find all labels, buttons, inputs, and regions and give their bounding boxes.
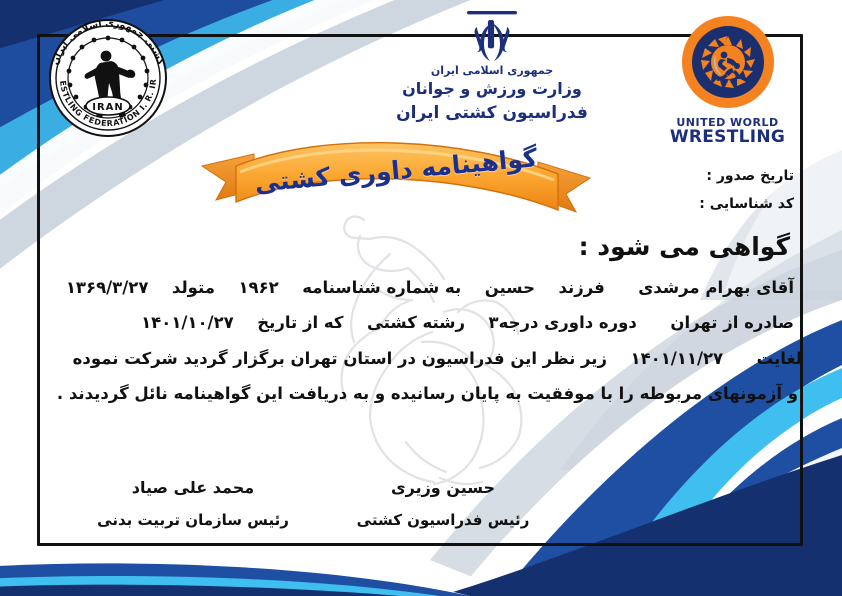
emblem-line-3: فدراسیون کشتی ایران <box>352 103 632 123</box>
issue-date-label: تاریخ صدور : <box>706 168 794 184</box>
deco-bottom-left-white <box>0 556 470 596</box>
united-world-wrestling-logo-icon <box>680 14 776 110</box>
uww-line-2: WRESTLING <box>660 129 795 147</box>
certificate-body: گواهی می شود : آقای بهرام مرشدی فرزند حس… <box>40 232 802 418</box>
certificate-meta-fields: تاریخ صدور : کد شناسایی : <box>584 168 794 224</box>
ministry-emblem-block: جمهوری اسلامی ایران وزارت ورزش و جوانان … <box>352 6 632 136</box>
id-number-label: به شماره شناسنامه <box>302 278 461 297</box>
id-code-field[interactable]: کد شناسایی : <box>584 196 794 212</box>
signature-role: رئیس سازمان تربیت بدنی <box>68 511 318 529</box>
emblem-line-2: وزارت ورزش و جوانان <box>352 79 632 98</box>
signature-role: رئیس فدراسیون کشتی <box>318 511 568 529</box>
father-label: فرزند <box>558 278 604 297</box>
signature-block: حسین وزیری رئیس فدراسیون کشتی محمد علی ص… <box>48 478 568 529</box>
issue-date-field[interactable]: تاریخ صدور : <box>584 168 794 184</box>
from-date-label: که از تاریخ <box>257 313 343 332</box>
body-line-4: و آزمونهای مربوطه را با موفقیت به پایان … <box>40 383 802 405</box>
until-date-value: ۱۴۰۱/۱۱/۲۷ <box>631 349 724 368</box>
body-line-3-rest: زیر نظر این فدراسیون در استان تهران برگز… <box>73 349 607 368</box>
discipline-name: رشته کشتی <box>367 313 465 332</box>
from-date-value: ۱۴۰۱/۱۰/۲۷ <box>141 313 234 332</box>
signature-name: محمد علی صیاد <box>68 478 318 497</box>
body-line-3: لغایت ۱۴۰۱/۱۱/۲۷ زیر نظر این فدراسیون در… <box>40 348 802 370</box>
wrestling-federation-seal: IRAN کشتی جمهوری اسلامی ایران WRESTLING … <box>38 8 178 148</box>
signature-name: حسین وزیری <box>318 478 568 497</box>
birth-date-value: ۱۳۶۹/۳/۲۷ <box>66 278 149 297</box>
ribbon-banner: گواهینامه داوری کشتی <box>196 126 596 222</box>
signature-federation-president: حسین وزیری رئیس فدراسیون کشتی <box>318 478 568 529</box>
id-number-value: ۱۹۶۲ <box>238 278 278 297</box>
svg-text:IRAN: IRAN <box>92 102 124 113</box>
body-headline: گواهی می شود : <box>40 232 802 261</box>
recipient-name: آقای بهرام مرشدی <box>638 278 794 297</box>
signature-physical-education-head: محمد علی صیاد رئیس سازمان تربیت بدنی <box>68 478 318 529</box>
deco-bottom-left-cyan <box>0 576 440 596</box>
deco-bottom-left-navy <box>0 585 400 596</box>
uww-logo-block: UNITED WORLD WRESTLING <box>660 14 795 147</box>
deco-bottom-left-blue <box>0 563 470 596</box>
father-name: حسین <box>485 278 535 297</box>
id-code-label: کد شناسایی : <box>699 196 794 212</box>
emblem-line-1: جمهوری اسلامی ایران <box>352 64 632 77</box>
body-line-2: صادره از تهران دوره داوری درجه۳ رشته کشت… <box>40 312 802 334</box>
body-line-1: آقای بهرام مرشدی فرزند حسین به شماره شنا… <box>40 277 802 299</box>
certificate-page: IRAN کشتی جمهوری اسلامی ایران WRESTLING … <box>0 0 842 596</box>
iran-national-emblem-icon <box>461 6 523 64</box>
birth-label: متولد <box>172 278 215 297</box>
course-name: دوره داوری درجه۳ <box>489 313 637 332</box>
until-label: لغایت <box>757 349 802 368</box>
issued-from: صادره از تهران <box>670 313 794 332</box>
